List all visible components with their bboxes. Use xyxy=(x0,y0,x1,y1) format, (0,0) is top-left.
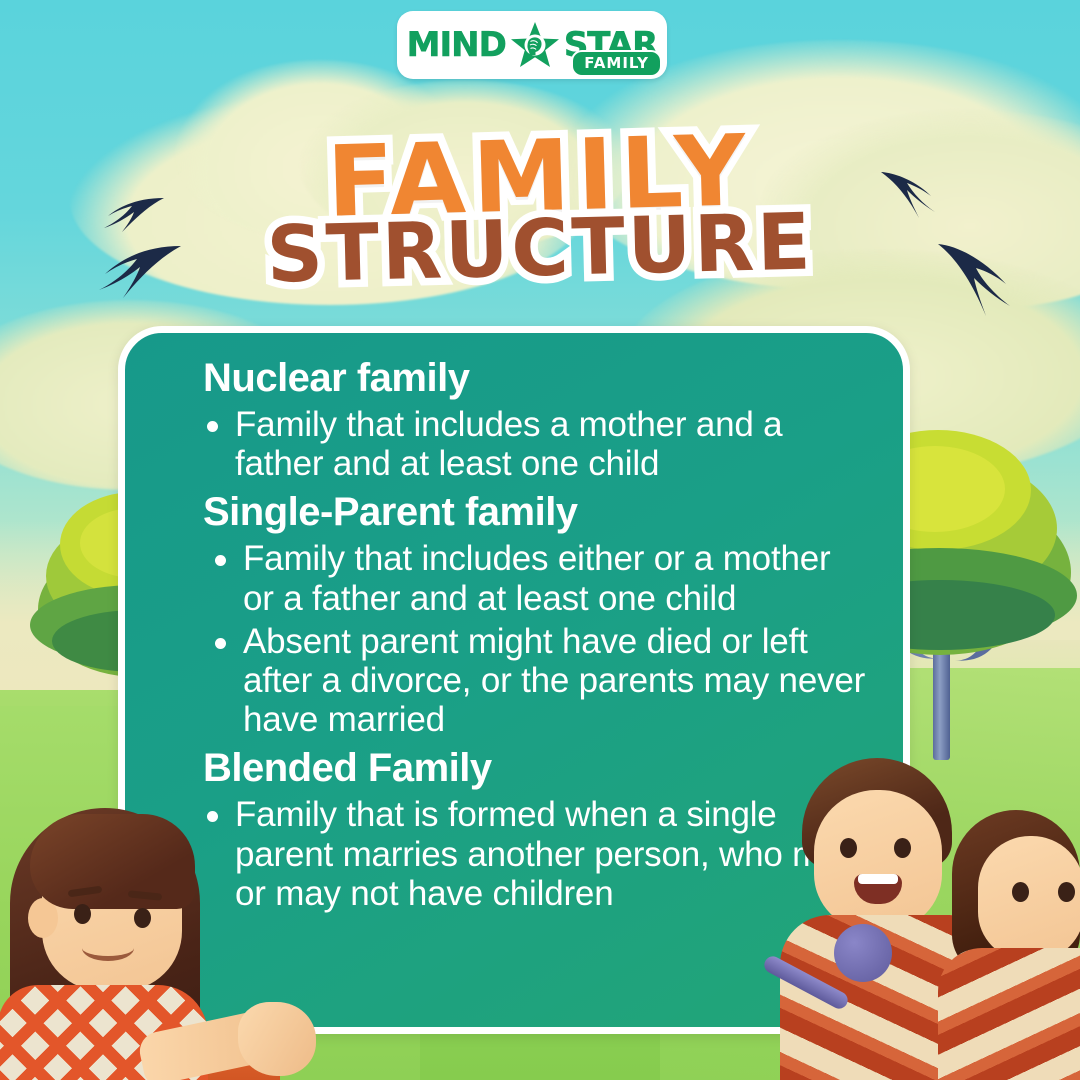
eye xyxy=(1012,882,1029,902)
face xyxy=(814,790,942,930)
list-item: Family that includes a mother and a fath… xyxy=(185,405,869,483)
teeth xyxy=(858,874,898,884)
section-heading: Single-Parent family xyxy=(203,489,869,535)
eye xyxy=(134,908,151,928)
section-nuclear-family: Nuclear family Family that includes a mo… xyxy=(185,355,869,483)
brand-word-mind: MIND xyxy=(407,28,506,62)
poster-title: FAMILY STRUCTURE xyxy=(0,128,1080,318)
section-heading: Blended Family xyxy=(203,745,869,791)
mallet-instrument xyxy=(760,912,930,1022)
girl-character-left xyxy=(0,780,290,1080)
poster-stage: MIND STAR FAMILY FAMILY STRUCTURE Nuclea… xyxy=(0,0,1080,1080)
eye xyxy=(1058,882,1075,902)
section-single-parent-family: Single-Parent family Family that include… xyxy=(185,489,869,739)
section-heading: Nuclear family xyxy=(203,355,869,401)
list-item: Absent parent might have died or left af… xyxy=(185,622,869,740)
shirt xyxy=(938,948,1080,1080)
mallet-head xyxy=(834,924,892,982)
brand-logo[interactable]: MIND STAR FAMILY xyxy=(397,11,667,79)
smile xyxy=(82,935,134,961)
hair-fringe xyxy=(30,814,195,909)
section-bullet-list: Family that includes a mother and a fath… xyxy=(185,405,869,483)
list-item: Family that includes either or a mother … xyxy=(185,539,869,617)
eye xyxy=(74,904,91,924)
eye xyxy=(840,838,857,858)
eye xyxy=(894,838,911,858)
page-subtitle: STRUCTURE xyxy=(265,203,814,294)
brand-badge-family: FAMILY xyxy=(571,50,662,77)
section-bullet-list: Family that includes either or a mother … xyxy=(185,539,869,739)
girl-character-right xyxy=(938,790,1080,1080)
hand xyxy=(238,1002,316,1076)
star-with-brain-head-icon xyxy=(509,21,561,69)
title-line2-wrap: STRUCTURE xyxy=(267,226,814,304)
